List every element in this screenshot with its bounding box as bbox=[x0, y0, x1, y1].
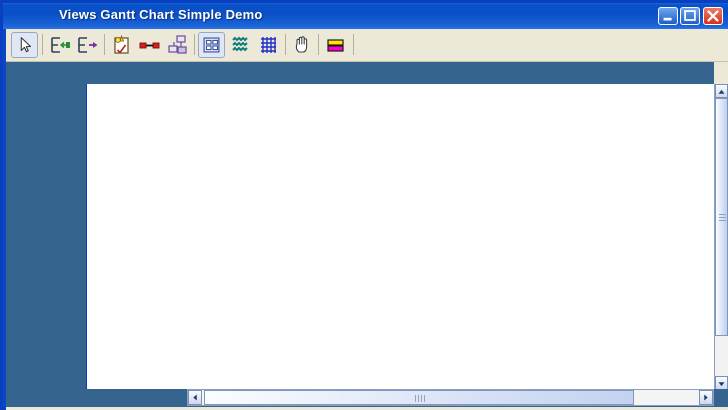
indent-left-tool-button[interactable] bbox=[46, 32, 73, 58]
vertical-scrollbar[interactable] bbox=[714, 84, 728, 390]
chart-canvas bbox=[87, 84, 714, 390]
wave-rows-tool-button[interactable] bbox=[227, 32, 254, 58]
link-tool-button[interactable] bbox=[136, 32, 163, 58]
toolbar bbox=[6, 29, 728, 62]
window-title: Views Gantt Chart Simple Demo bbox=[59, 7, 263, 22]
toolbar-separator bbox=[42, 34, 43, 55]
chevron-right-icon bbox=[700, 391, 712, 404]
grid-lines-tool-button[interactable] bbox=[255, 32, 282, 58]
legend-icon bbox=[322, 32, 349, 58]
indent-right-tool-button[interactable] bbox=[74, 32, 101, 58]
time-ruler bbox=[6, 62, 714, 86]
close-button[interactable] bbox=[703, 7, 723, 25]
grid-view-tool-button[interactable] bbox=[198, 32, 225, 58]
chevron-left-icon bbox=[189, 391, 201, 404]
chevron-up-icon bbox=[716, 86, 727, 98]
minimize-button[interactable] bbox=[658, 7, 678, 25]
gantt-chart bbox=[6, 62, 728, 410]
link-icon bbox=[136, 32, 163, 58]
toolbar-separator bbox=[194, 34, 195, 55]
properties-icon bbox=[108, 32, 135, 58]
close-icon bbox=[704, 8, 722, 24]
maximize-icon bbox=[681, 8, 699, 24]
legend-tool-button[interactable] bbox=[322, 32, 349, 58]
indent-icon bbox=[74, 32, 101, 58]
horizontal-scroll-thumb[interactable] bbox=[204, 390, 634, 405]
outdent-icon bbox=[46, 32, 73, 58]
pointer-icon bbox=[12, 33, 37, 57]
bottom-bar bbox=[6, 389, 728, 407]
subtree-tool-button[interactable] bbox=[164, 32, 191, 58]
row-header-column bbox=[6, 84, 87, 390]
horizontal-scrollbar[interactable] bbox=[187, 389, 714, 406]
toolbar-separator bbox=[104, 34, 105, 55]
pointer-tool-button[interactable] bbox=[11, 32, 38, 58]
scroll-right-button[interactable] bbox=[699, 390, 713, 405]
subtree-icon bbox=[164, 32, 191, 58]
toolbar-separator bbox=[285, 34, 286, 55]
application-window: Views Gantt Chart Simple Demo bbox=[0, 0, 728, 410]
maximize-button[interactable] bbox=[680, 7, 700, 25]
title-bar: Views Gantt Chart Simple Demo bbox=[3, 3, 728, 29]
minimize-icon bbox=[659, 8, 677, 24]
grid-lines-icon bbox=[255, 32, 282, 58]
wave-rows-icon bbox=[227, 32, 254, 58]
vertical-scroll-thumb[interactable] bbox=[715, 98, 728, 336]
toolbar-separator bbox=[353, 34, 354, 55]
properties-tool-button[interactable] bbox=[108, 32, 135, 58]
pan-tool-button[interactable] bbox=[289, 32, 316, 58]
toolbar-separator bbox=[318, 34, 319, 55]
scroll-up-button[interactable] bbox=[715, 84, 728, 98]
scroll-down-button[interactable] bbox=[715, 376, 728, 390]
hand-icon bbox=[289, 32, 316, 58]
grid-view-icon bbox=[199, 33, 224, 57]
scroll-left-button[interactable] bbox=[188, 390, 202, 405]
chart-plot-area[interactable] bbox=[87, 84, 714, 390]
